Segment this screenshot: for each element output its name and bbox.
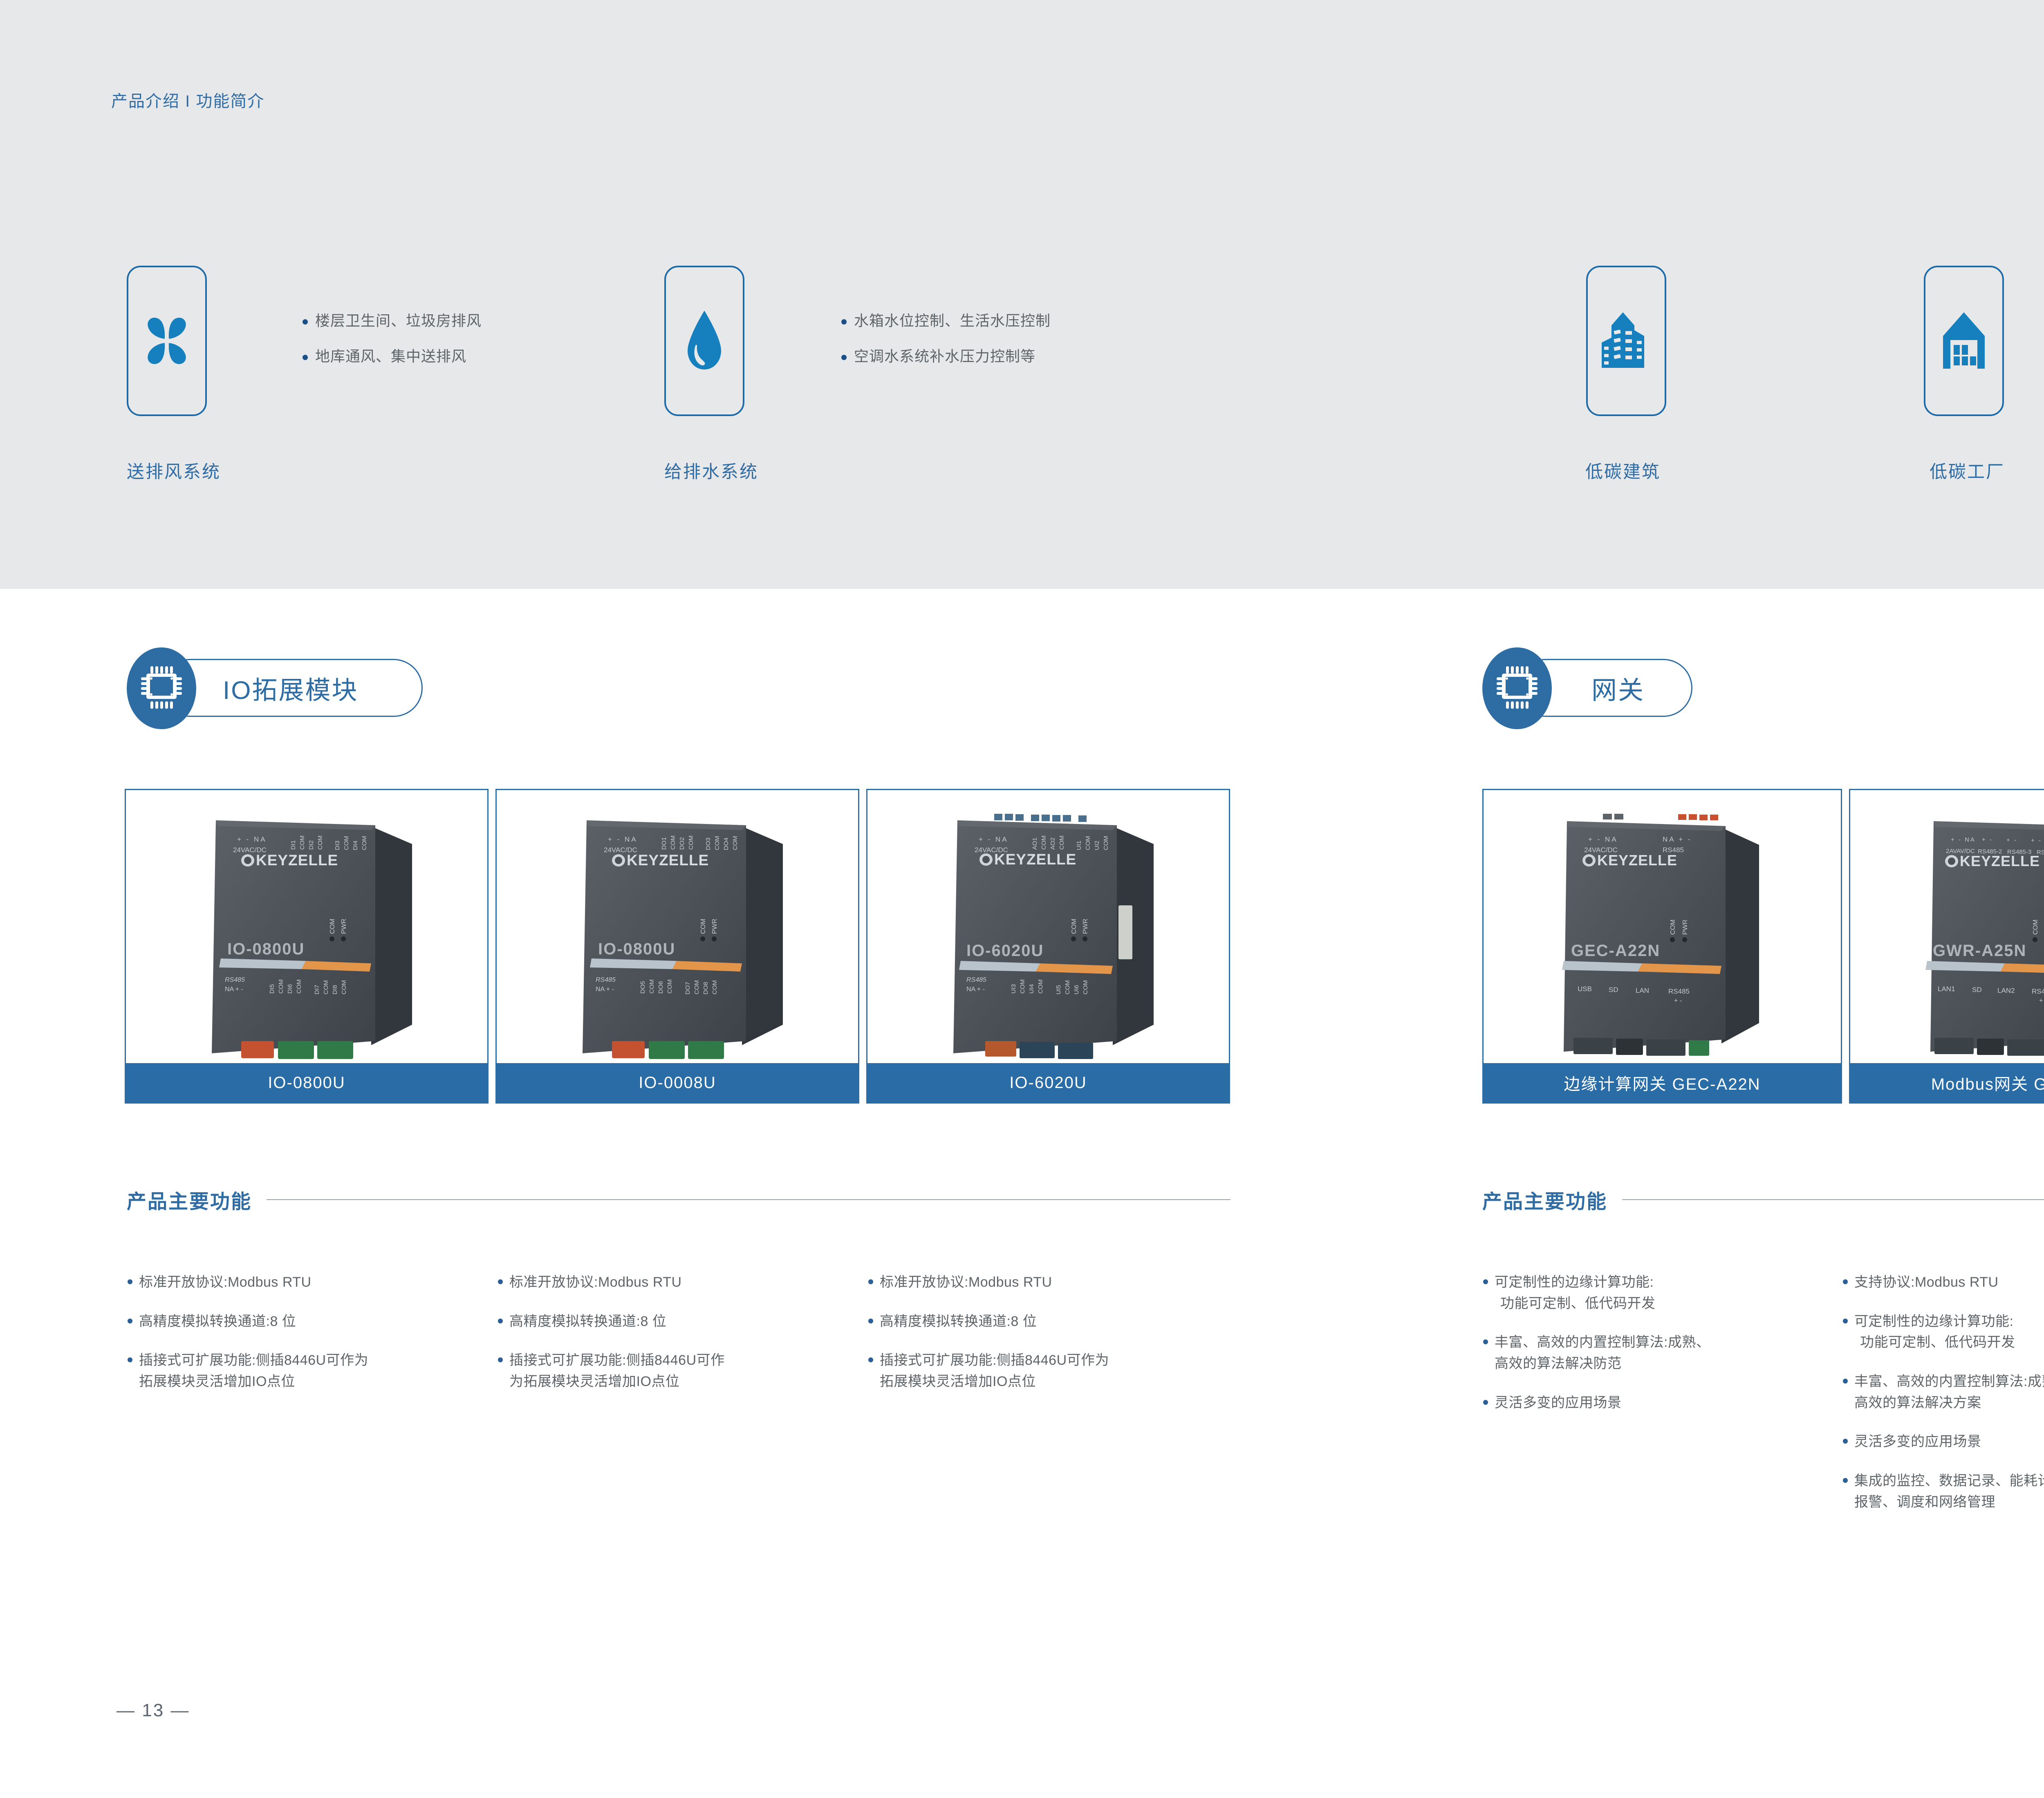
svg-text:COM: COM — [278, 979, 285, 994]
feature-text: 可定制性的边缘计算功能: 功能可定制、低代码开发 — [1854, 1311, 2015, 1353]
bullet-dot — [498, 1319, 503, 1323]
feature-column-io-1: 标准开放协议:Modbus RTU 高精度模拟转换通道:8 位 插接式可扩展功能… — [128, 1272, 487, 1411]
bullet-dot — [1483, 1339, 1488, 1344]
svg-text:UI1: UI1 — [1076, 841, 1083, 850]
section-pill-io-module: IO拓展模块 — [161, 659, 423, 717]
list-item: 高精度模拟转换通道:8 位 — [128, 1311, 487, 1332]
svg-text:DI8: DI8 — [332, 985, 338, 994]
feature-text: 支持协议:Modbus RTU — [1854, 1272, 1999, 1293]
svg-text:AO2: AO2 — [1049, 837, 1056, 850]
svg-text:COM: COM — [648, 979, 655, 994]
svg-text:+ - NA: + - NA — [1951, 836, 1976, 843]
svg-text:USB: USB — [1578, 985, 1592, 993]
svg-text:RS485: RS485 — [1668, 987, 1690, 995]
svg-text:RS485: RS485 — [596, 976, 616, 983]
office-building-icon-frame — [1586, 266, 1666, 416]
water-bullet-list: 水箱水位控制、生活水压控制 空调水系统补水压力控制等 — [841, 311, 1051, 383]
svg-text:+ - NA: + - NA — [979, 835, 1009, 843]
product-card-io-0800u[interactable]: + - NA 24VAC/DC DI1 COM DI2 COM DI3 COM … — [125, 789, 489, 1104]
svg-text:DI3: DI3 — [334, 841, 341, 850]
product-caption-bar: IO-6020U — [867, 1063, 1229, 1102]
svg-text:IO-0800U: IO-0800U — [227, 940, 305, 958]
feature-column-gateway-2: 支持协议:Modbus RTU 可定制性的边缘计算功能: 功能可定制、低代码开发… — [1843, 1272, 2044, 1531]
feature-column-io-3: 标准开放协议:Modbus RTU 高精度模拟转换通道:8 位 插接式可扩展功能… — [868, 1272, 1228, 1411]
features-heading-text: 产品主要功能 — [127, 1185, 252, 1214]
svg-text:DO1: DO1 — [661, 837, 668, 850]
bullet-dot — [1843, 1478, 1848, 1483]
feature-text: 插接式可扩展功能:侧插8446U可作为 拓展模块灵活增加IO点位 — [139, 1350, 368, 1392]
product-photo-io-0008u: + - NA 24VAC/DC DO1 COM DO2 COM DO3 COM … — [497, 790, 858, 1063]
svg-text:UI4: UI4 — [1028, 984, 1035, 994]
feature-text: 高精度模拟转换通道:8 位 — [139, 1311, 296, 1332]
office-building-icon — [1599, 311, 1653, 371]
svg-text:+ -: + - — [1674, 997, 1682, 1004]
svg-text:COM: COM — [1071, 919, 1078, 934]
running-head-left: 产品介绍 I 功能简介 — [111, 88, 264, 112]
water-drop-icon — [682, 308, 727, 374]
bullet-dot — [498, 1357, 503, 1362]
svg-text:COM: COM — [1058, 835, 1065, 850]
svg-text:COM: COM — [329, 919, 336, 934]
bullet-text: 空调水系统补水压力控制等 — [854, 347, 1035, 366]
svg-text:NA + -: NA + - — [596, 986, 614, 993]
svg-text:+ - NA: + - NA — [1588, 835, 1618, 843]
svg-text:KEYZELLE: KEYZELLE — [256, 852, 338, 869]
svg-text:AO1: AO1 — [1031, 837, 1038, 850]
bullet-dot — [868, 1319, 873, 1323]
product-card-io-0008u[interactable]: + - NA 24VAC/DC DO1 COM DO2 COM DO3 COM … — [495, 789, 859, 1104]
bullet-dot — [868, 1357, 873, 1362]
product-caption-text: IO-0800U — [268, 1074, 345, 1092]
svg-text:COM: COM — [688, 835, 695, 850]
svg-text:DI6: DI6 — [287, 984, 294, 994]
features-heading-text: 产品主要功能 — [1482, 1185, 1607, 1214]
list-item: 楼层卫生间、垃圾房排风 — [303, 311, 482, 331]
top-gray-band — [0, 0, 2044, 589]
list-item: 灵活多变的应用场景 — [1843, 1431, 2044, 1453]
svg-text:DO3: DO3 — [705, 837, 712, 850]
fan-icon-frame — [127, 266, 207, 416]
svg-text:+ -: + - — [2006, 837, 2017, 844]
svg-text:COM: COM — [361, 836, 368, 850]
bullet-dot — [1843, 1379, 1848, 1384]
product-card-io-6020u[interactable]: + - NA 24VAC/DC AO1 COM AO2 COM UI1 COM … — [866, 789, 1230, 1104]
svg-text:LAN2: LAN2 — [1997, 987, 2015, 994]
svg-text:UI6: UI6 — [1073, 985, 1080, 994]
svg-text:COM: COM — [693, 980, 700, 994]
chip-icon — [1496, 664, 1538, 713]
product-caption-text: IO-0008U — [639, 1074, 716, 1092]
bullet-dot — [128, 1319, 132, 1323]
svg-text:COM: COM — [732, 836, 739, 850]
bullet-dot — [498, 1279, 503, 1284]
list-item: 插接式可扩展功能:侧插8446U可作为 拓展模块灵活增加IO点位 — [868, 1350, 1228, 1392]
svg-text:IO-6020U: IO-6020U — [966, 942, 1044, 960]
features-heading-io: 产品主要功能 — [127, 1185, 1230, 1214]
svg-text:COM: COM — [1670, 920, 1676, 935]
svg-text:DI2: DI2 — [308, 840, 315, 850]
factory-icon-frame — [1924, 266, 2004, 416]
svg-text:DI5: DI5 — [269, 984, 276, 994]
svg-text:PWR: PWR — [341, 919, 347, 934]
svg-text:UI2: UI2 — [1094, 841, 1100, 850]
svg-text:DO7: DO7 — [684, 982, 691, 994]
heading-rule — [1622, 1199, 2044, 1200]
bullet-dot — [1483, 1400, 1488, 1405]
svg-text:+ -: + - — [2039, 997, 2044, 1004]
list-item: 集成的监控、数据记录、能耗计量、 报警、调度和网络管理 — [1843, 1471, 2044, 1513]
feature-text: 灵活多变的应用场景 — [1854, 1431, 1981, 1453]
svg-text:RS485: RS485 — [966, 976, 986, 983]
svg-text:UI3: UI3 — [1010, 984, 1017, 994]
svg-text:NA + -: NA + - — [1663, 835, 1692, 843]
bullet-dot — [841, 319, 847, 325]
svg-text:NA + -: NA + - — [966, 986, 985, 993]
svg-text:COM: COM — [1040, 835, 1047, 850]
list-item: 插接式可扩展功能:侧插8446U可作 为拓展模块灵活增加IO点位 — [498, 1350, 858, 1392]
list-item: 高精度模拟转换通道:8 位 — [498, 1311, 858, 1332]
fan-icon — [141, 312, 193, 370]
bullet-dot — [868, 1279, 873, 1284]
product-caption-bar: 边缘计算网关 GEC-A22N — [1484, 1063, 1841, 1102]
bullet-dot — [1483, 1279, 1488, 1284]
svg-text:COM: COM — [1037, 979, 1044, 994]
svg-text:COM: COM — [323, 980, 329, 994]
list-item: 支持协议:Modbus RTU — [1843, 1272, 2044, 1293]
bullet-dot — [128, 1279, 132, 1284]
bullet-text: 楼层卫生间、垃圾房排风 — [315, 311, 482, 331]
product-photo-gwr-a25n: + - NA + - + - + - + - 2AVAV/DC RS485-2 … — [1850, 790, 2044, 1063]
product-photo-gec-a22n: + - NA 24VAC/DC NA + - RS485 USB SD LAN … — [1484, 790, 1841, 1063]
svg-text:+ -: + - — [1982, 836, 1993, 843]
list-item: 插接式可扩展功能:侧插8446U可作为 拓展模块灵活增加IO点位 — [128, 1350, 487, 1392]
feature-column-gateway-1: 可定制性的边缘计算功能: 功能可定制、低代码开发 丰富、高效的内置控制算法:成熟… — [1483, 1272, 1835, 1431]
factory-icon — [1940, 311, 1988, 371]
product-photo-io-6020u: + - NA 24VAC/DC AO1 COM AO2 COM UI1 COM … — [867, 790, 1229, 1063]
svg-text:COM: COM — [1019, 979, 1026, 994]
list-item: 水箱水位控制、生活水压控制 — [841, 311, 1051, 331]
bullet-dot — [841, 355, 847, 360]
svg-text:KEYZELLE: KEYZELLE — [994, 851, 1076, 868]
feature-column-io-2: 标准开放协议:Modbus RTU 高精度模拟转换通道:8 位 插接式可扩展功能… — [498, 1272, 858, 1411]
scenario-label-building: 低碳建筑 — [1585, 458, 1661, 483]
list-item: 可定制性的边缘计算功能: 功能可定制、低代码开发 — [1843, 1311, 2044, 1353]
list-item: 可定制性的边缘计算功能: 功能可定制、低代码开发 — [1483, 1272, 1835, 1314]
application-label-water: 给排水系统 — [664, 458, 758, 483]
bullet-dot — [303, 319, 308, 325]
svg-text:KEYZELLE: KEYZELLE — [627, 852, 709, 869]
product-caption-bar: IO-0008U — [497, 1063, 858, 1102]
svg-text:PWR: PWR — [711, 919, 718, 934]
svg-text:GEC-A22N: GEC-A22N — [1571, 942, 1660, 960]
scenario-label-factory: 低碳工厂 — [1930, 458, 2005, 483]
bullet-dot — [128, 1357, 132, 1362]
feature-text: 标准开放协议:Modbus RTU — [139, 1272, 312, 1293]
application-label-ventilation: 送排风系统 — [127, 458, 221, 483]
svg-text:COM: COM — [1085, 836, 1091, 850]
feature-text: 高精度模拟转换通道:8 位 — [880, 1311, 1037, 1332]
svg-text:DO8: DO8 — [702, 982, 709, 994]
svg-text:COM: COM — [1064, 980, 1071, 994]
svg-text:COM: COM — [343, 836, 350, 850]
svg-text:COM: COM — [317, 835, 324, 850]
svg-text:RS485-1: RS485-1 — [2032, 987, 2044, 995]
svg-text:RS485: RS485 — [225, 976, 245, 983]
svg-text:COM: COM — [1082, 980, 1089, 994]
chip-icon-circle-gateway — [1482, 647, 1552, 729]
feature-text: 插接式可扩展功能:侧插8446U可作为 拓展模块灵活增加IO点位 — [880, 1350, 1109, 1392]
svg-text:IO-0800U: IO-0800U — [598, 940, 675, 958]
bullet-dot — [1843, 1319, 1848, 1323]
feature-text: 灵活多变的应用场景 — [1495, 1393, 1622, 1414]
list-item: 丰富、高效的内置控制算法:成熟、 高效的算法解决方案 — [1843, 1371, 2044, 1413]
list-item: 地库通风、集中送排风 — [303, 347, 482, 366]
heading-rule — [267, 1199, 1230, 1200]
brochure-spread: 产品介绍 I 功能简介 产品介绍 I 功能简介 — 13 — — 14 — — [0, 0, 2044, 1798]
bullet-dot — [303, 355, 308, 360]
product-caption-bar: Modbus网关 GWR-A25N — [1850, 1063, 2044, 1102]
svg-text:DO6: DO6 — [657, 981, 664, 994]
svg-text:+ -: + - — [2031, 837, 2042, 844]
feature-text: 丰富、高效的内置控制算法:成熟、 高效的算法解决防范 — [1495, 1332, 1710, 1374]
svg-text:SD: SD — [1609, 986, 1618, 994]
product-caption-text: Modbus网关 GWR-A25N — [1931, 1071, 2044, 1095]
svg-text:COM: COM — [2032, 920, 2039, 935]
bullet-dot — [1843, 1279, 1848, 1284]
product-caption-text: 边缘计算网关 GEC-A22N — [1564, 1071, 1760, 1095]
svg-text:DI7: DI7 — [314, 985, 320, 994]
svg-text:COM: COM — [666, 979, 673, 994]
water-drop-icon-frame — [664, 266, 744, 416]
svg-text:COM: COM — [1103, 836, 1109, 850]
page-number-left: — 13 — — [117, 1700, 190, 1721]
product-caption-text: IO-6020U — [1009, 1074, 1087, 1092]
list-item: 标准开放协议:Modbus RTU — [498, 1272, 858, 1293]
svg-text:DI1: DI1 — [290, 840, 297, 850]
list-item: 标准开放协议:Modbus RTU — [868, 1272, 1228, 1293]
svg-text:LAN1: LAN1 — [1938, 985, 1955, 993]
feature-text: 丰富、高效的内置控制算法:成熟、 高效的算法解决方案 — [1854, 1371, 2044, 1413]
product-card-gwr-a25n[interactable]: + - NA + - + - + - + - 2AVAV/DC RS485-2 … — [1849, 789, 2044, 1104]
feature-text: 集成的监控、数据记录、能耗计量、 报警、调度和网络管理 — [1854, 1471, 2044, 1513]
list-item: 高精度模拟转换通道:8 位 — [868, 1311, 1228, 1332]
svg-text:PWR: PWR — [1682, 920, 1689, 935]
product-photo-io-0800u: + - NA 24VAC/DC DI1 COM DI2 COM DI3 COM … — [126, 790, 487, 1063]
chip-icon — [140, 664, 183, 713]
svg-text:GWR-A25N: GWR-A25N — [1933, 942, 2026, 960]
svg-text:COM: COM — [700, 919, 707, 934]
feature-text: 可定制性的边缘计算功能: 功能可定制、低代码开发 — [1495, 1272, 1656, 1314]
feature-text: 插接式可扩展功能:侧插8446U可作 为拓展模块灵活增加IO点位 — [509, 1350, 725, 1392]
svg-text:COM: COM — [714, 836, 721, 850]
feature-text: 高精度模拟转换通道:8 位 — [509, 1311, 666, 1332]
product-caption-bar: IO-0800U — [126, 1063, 487, 1102]
svg-text:NA + -: NA + - — [225, 986, 243, 993]
chip-icon-circle-io — [127, 647, 196, 729]
svg-text:DO5: DO5 — [639, 981, 646, 994]
feature-text: 标准开放协议:Modbus RTU — [880, 1272, 1052, 1293]
svg-text:KEYZELLE: KEYZELLE — [1597, 852, 1677, 869]
svg-text:DO2: DO2 — [679, 837, 686, 850]
svg-text:UI5: UI5 — [1055, 985, 1062, 994]
svg-text:DI4: DI4 — [352, 841, 359, 850]
svg-text:SD: SD — [1972, 986, 1982, 994]
svg-text:LAN: LAN — [1636, 987, 1649, 994]
features-heading-gateway: 产品主要功能 — [1482, 1185, 2044, 1214]
svg-text:COM: COM — [711, 980, 718, 994]
svg-text:DO4: DO4 — [723, 837, 730, 850]
svg-text:COM: COM — [299, 835, 306, 850]
svg-text:COM: COM — [341, 980, 347, 994]
bullet-text: 水箱水位控制、生活水压控制 — [854, 311, 1051, 331]
ventilation-bullet-list: 楼层卫生间、垃圾房排风 地库通风、集中送排风 — [303, 311, 482, 383]
bullet-text: 地库通风、集中送排风 — [315, 347, 466, 366]
svg-text:PWR: PWR — [1082, 919, 1089, 934]
svg-text:COM: COM — [670, 835, 677, 850]
svg-text:+ - NA: + - NA — [608, 835, 638, 843]
bullet-dot — [1843, 1439, 1848, 1444]
list-item: 丰富、高效的内置控制算法:成熟、 高效的算法解决防范 — [1483, 1332, 1835, 1374]
list-item: 标准开放协议:Modbus RTU — [128, 1272, 487, 1293]
product-card-gec-a22n[interactable]: + - NA 24VAC/DC NA + - RS485 USB SD LAN … — [1482, 789, 1842, 1104]
list-item: 空调水系统补水压力控制等 — [841, 347, 1051, 366]
feature-text: 标准开放协议:Modbus RTU — [509, 1272, 682, 1293]
svg-text:COM: COM — [296, 979, 303, 994]
svg-text:KEYZELLE: KEYZELLE — [1960, 853, 2040, 869]
svg-text:+ - NA: + - NA — [237, 835, 267, 843]
list-item: 灵活多变的应用场景 — [1483, 1393, 1835, 1414]
